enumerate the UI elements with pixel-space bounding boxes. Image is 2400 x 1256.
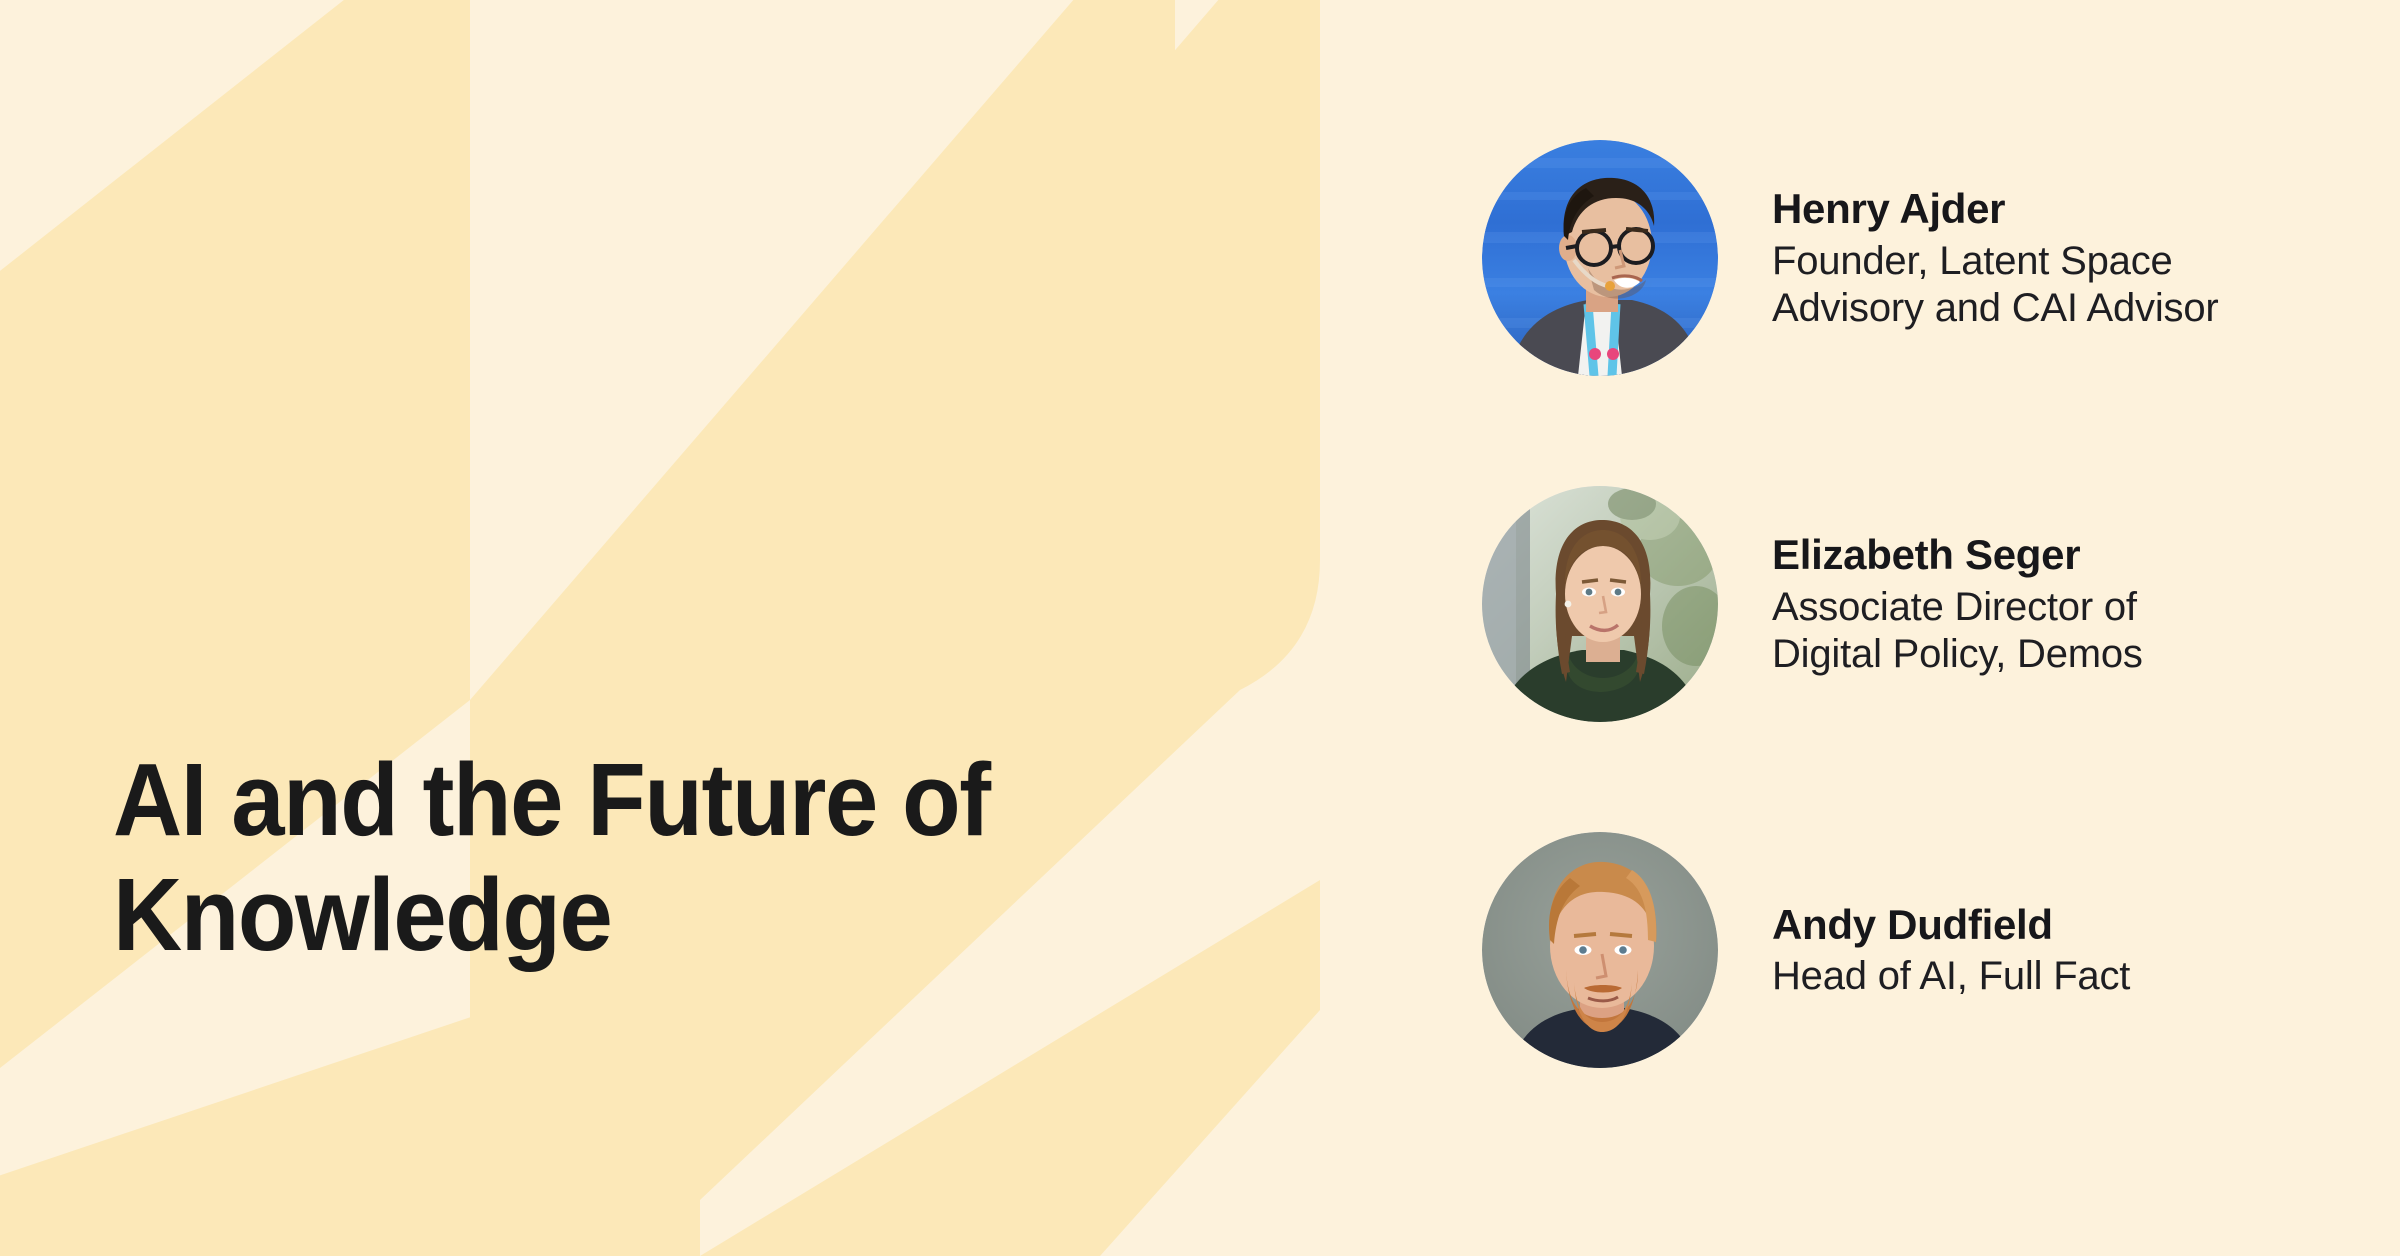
banner-canvas: AI and the Future of Knowledge bbox=[0, 0, 2400, 1256]
speaker-name: Andy Dudfield bbox=[1772, 900, 2130, 950]
avatar-elizabeth-seger bbox=[1482, 486, 1718, 722]
avatar-andy-dudfield bbox=[1482, 832, 1718, 1068]
speaker-name: Elizabeth Seger bbox=[1772, 530, 2143, 580]
title-block: AI and the Future of Knowledge bbox=[113, 742, 1113, 973]
speaker-item: Elizabeth Seger Associate Director of Di… bbox=[1482, 486, 2362, 722]
speaker-item: Andy Dudfield Head of AI, Full Fact bbox=[1482, 832, 2362, 1068]
speaker-list: Henry Ajder Founder, Latent Space Adviso… bbox=[1482, 140, 2362, 1068]
speaker-name: Henry Ajder bbox=[1772, 184, 2219, 234]
avatar-henry-ajder bbox=[1482, 140, 1718, 376]
speaker-role: Founder, Latent Space Advisory and CAI A… bbox=[1772, 238, 2219, 332]
speaker-text: Elizabeth Seger Associate Director of Di… bbox=[1772, 530, 2143, 677]
speaker-role: Associate Director of Digital Policy, De… bbox=[1772, 584, 2143, 678]
speaker-text: Henry Ajder Founder, Latent Space Adviso… bbox=[1772, 184, 2219, 331]
speaker-item: Henry Ajder Founder, Latent Space Adviso… bbox=[1482, 140, 2362, 376]
speaker-text: Andy Dudfield Head of AI, Full Fact bbox=[1772, 900, 2130, 1000]
page-title: AI and the Future of Knowledge bbox=[113, 742, 1043, 973]
speaker-role: Head of AI, Full Fact bbox=[1772, 953, 2130, 1000]
